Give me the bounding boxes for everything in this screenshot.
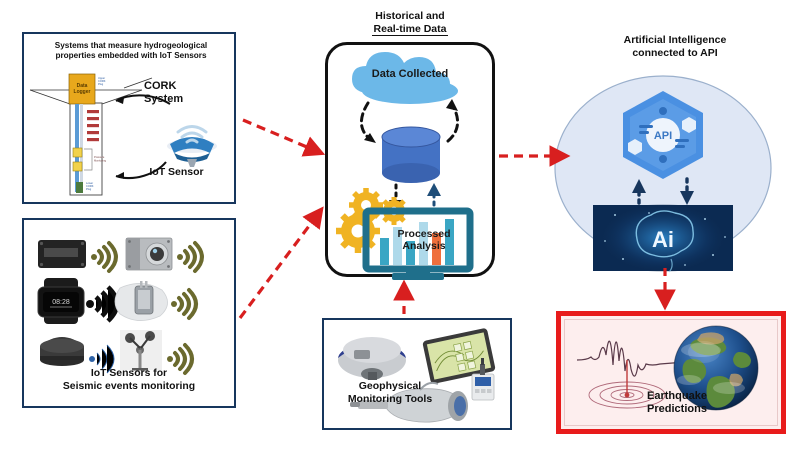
- monitor-graphic: Processed Analysis: [366, 211, 470, 280]
- iot-device-gallery: 08:28: [24, 226, 234, 372]
- connector-iot-to-hub: [240, 210, 321, 318]
- diagram-canvas: Systems that measure hydrogeological pro…: [0, 0, 800, 450]
- wifi-icon-3: [86, 287, 117, 321]
- data-hub-illustration: Data Collected: [328, 45, 494, 275]
- monitor-label-2: Analysis: [402, 240, 445, 252]
- monitor-label-1: Processed: [397, 228, 450, 240]
- panel-ai: API Ai: [553, 73, 773, 263]
- svg-text:Plug: Plug: [86, 187, 92, 191]
- ai-label: Ai: [652, 227, 674, 252]
- panel-geophysical-tools: Geophysical Monitoring Tools: [322, 318, 512, 430]
- cork-panel-caption: Systems that measure hydrogeological pro…: [24, 41, 238, 61]
- wifi-icon-1: [91, 243, 116, 271]
- panel-iot-sensors: 08:28: [22, 218, 236, 408]
- ai-brain-graphic: Ai: [593, 204, 733, 272]
- iot-sensor-label: IoT Sensor: [124, 166, 229, 179]
- device-mobile-sensor: [115, 281, 168, 321]
- iot-sensors-caption: IoT Sensors for Seismic events monitorin…: [24, 368, 234, 393]
- wifi-icon-4: [171, 290, 196, 318]
- cork-system-label: CORK System: [144, 80, 230, 107]
- device-seismic-camera: [126, 238, 172, 270]
- ai-header: Artificial Intelligence connected to API: [580, 34, 770, 59]
- svg-text:Monitoring: Monitoring: [94, 159, 107, 163]
- iot-sensor-graphic: [167, 127, 217, 168]
- earthquake-caption: Earthquake Predictions: [617, 390, 737, 417]
- device-anemometer: [120, 330, 162, 371]
- api-label: API: [654, 130, 672, 142]
- geophysical-caption: Geophysical Monitoring Tools: [328, 380, 452, 406]
- svg-text:Plug: Plug: [98, 82, 104, 86]
- svg-text:Pressure: Pressure: [94, 155, 105, 159]
- panel-data-hub: Data Collected: [325, 42, 495, 277]
- device-smart-watch: 08:28: [38, 278, 84, 324]
- panel-cork-system: Systems that measure hydrogeological pro…: [22, 32, 236, 204]
- panel-earthquake-predictions: Earthquake Predictions: [556, 311, 786, 434]
- database-graphic: [382, 127, 440, 183]
- device-geophone-dome: [40, 337, 84, 366]
- bar-6: [445, 219, 454, 265]
- cloud-label: Data Collected: [372, 68, 448, 80]
- bar-1: [380, 238, 389, 265]
- wifi-icon-2: [177, 243, 202, 271]
- data-hub-header: Historical and Real-time Data: [330, 10, 490, 36]
- watch-time-display: 08:28: [52, 299, 70, 306]
- connector-cork-to-hub: [243, 120, 321, 153]
- data-logger-label-2: Logger: [74, 89, 91, 95]
- geophysical-tools-illustration: [324, 320, 510, 428]
- tool-gnss-receiver: [338, 337, 406, 380]
- device-datalogger-box: [38, 240, 86, 268]
